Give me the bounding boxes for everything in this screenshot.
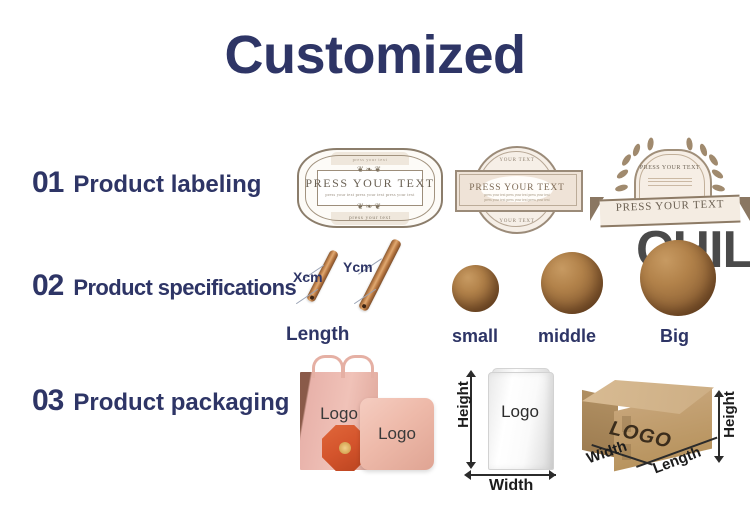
laurel-leaf-icon — [647, 137, 655, 151]
badge1-flourish-bottom: ❦❧❦ — [297, 202, 443, 211]
badge1-top-text: press your text — [297, 157, 443, 162]
laurel-leaf-icon — [711, 183, 725, 192]
stick-end-icon — [309, 295, 314, 300]
stick-label-ycm: Ycm — [343, 259, 373, 275]
arrow-up-icon — [466, 370, 476, 377]
gift-box-logo-text: Logo — [360, 424, 434, 444]
caption-ball-middle: middle — [538, 326, 596, 347]
row-label-03: 03 Product packaging — [32, 384, 289, 418]
row-number-01: 01 — [32, 166, 63, 200]
caption-ball-big: Big — [660, 326, 689, 347]
row-number-03: 03 — [32, 384, 63, 418]
caption-ball-small: small — [452, 326, 498, 347]
badge1-sub-text: press your text press your text press yo… — [311, 192, 429, 197]
laurel-leaf-icon — [614, 183, 628, 192]
badge2-top-text: YOUR TEXT — [447, 158, 587, 163]
row-title-01: Product labeling — [73, 171, 261, 199]
row-title-03: Product packaging — [73, 389, 289, 417]
badge2-sub-text-2: press your text press your text press yo… — [469, 198, 565, 203]
row-label-01: 01 Product labeling — [32, 166, 261, 200]
wooden-ball-middle — [541, 252, 603, 314]
badge1-bottom-text: press your text — [297, 215, 443, 221]
badge1-flourish-top: ❦❧❦ — [297, 165, 443, 174]
badge1-main-text: PRESS YOUR TEXT — [297, 176, 443, 191]
label-badge-circle-rect: YOUR TEXT PRESS YOUR TEXT press your tex… — [447, 146, 587, 230]
row-number-02: 02 — [32, 269, 63, 303]
sack-logo-text: Logo — [488, 402, 552, 422]
carton-height-dimension-line — [718, 396, 720, 458]
badge2-main-text: PRESS YOUR TEXT — [447, 183, 587, 193]
bag-handle-icon — [312, 355, 344, 378]
label-badge-ornate-rect: ❦❧❦ press your text PRESS YOUR TEXT pres… — [297, 148, 443, 228]
arrow-down-icon — [466, 462, 476, 469]
badge3-rule-lines — [648, 175, 692, 188]
row-title-02: Product specifications — [73, 275, 296, 301]
arrow-left-icon — [464, 470, 471, 480]
bag-handle-icon — [342, 355, 374, 378]
sack-width-label: Width — [489, 477, 533, 495]
laurel-leaf-icon — [686, 137, 694, 151]
caption-length: Length — [286, 324, 349, 346]
sack-width-dimension-line — [470, 474, 556, 476]
row-label-02: 02 Product specifications — [32, 269, 296, 303]
stick-end-icon — [361, 303, 366, 308]
wooden-ball-big — [640, 240, 716, 316]
badge3-shield-text: PRESS YOUR TEXT — [590, 165, 750, 171]
badge2-bottom-text: YOUR TEXT — [447, 219, 587, 224]
laurel-leaf-icon — [698, 143, 708, 157]
infographic-page: Customized 01 Product labeling 02 Produc… — [0, 0, 750, 512]
octagon-tin-emblem — [339, 442, 351, 454]
arrow-down-icon — [714, 456, 724, 463]
stick-label-xcm: Xcm — [293, 269, 323, 285]
page-title: Customized — [0, 28, 750, 82]
wooden-stick-long — [358, 238, 402, 312]
laurel-leaf-icon — [631, 143, 641, 157]
sack-height-label: Height — [455, 381, 472, 428]
wooden-ball-small — [452, 265, 499, 312]
carton-height-label: Height — [721, 391, 738, 438]
arrow-right-icon — [549, 470, 556, 480]
label-badge-laurel-ribbon: PRESS YOUR TEXT PRESS YOUR TEXT — [590, 141, 750, 233]
